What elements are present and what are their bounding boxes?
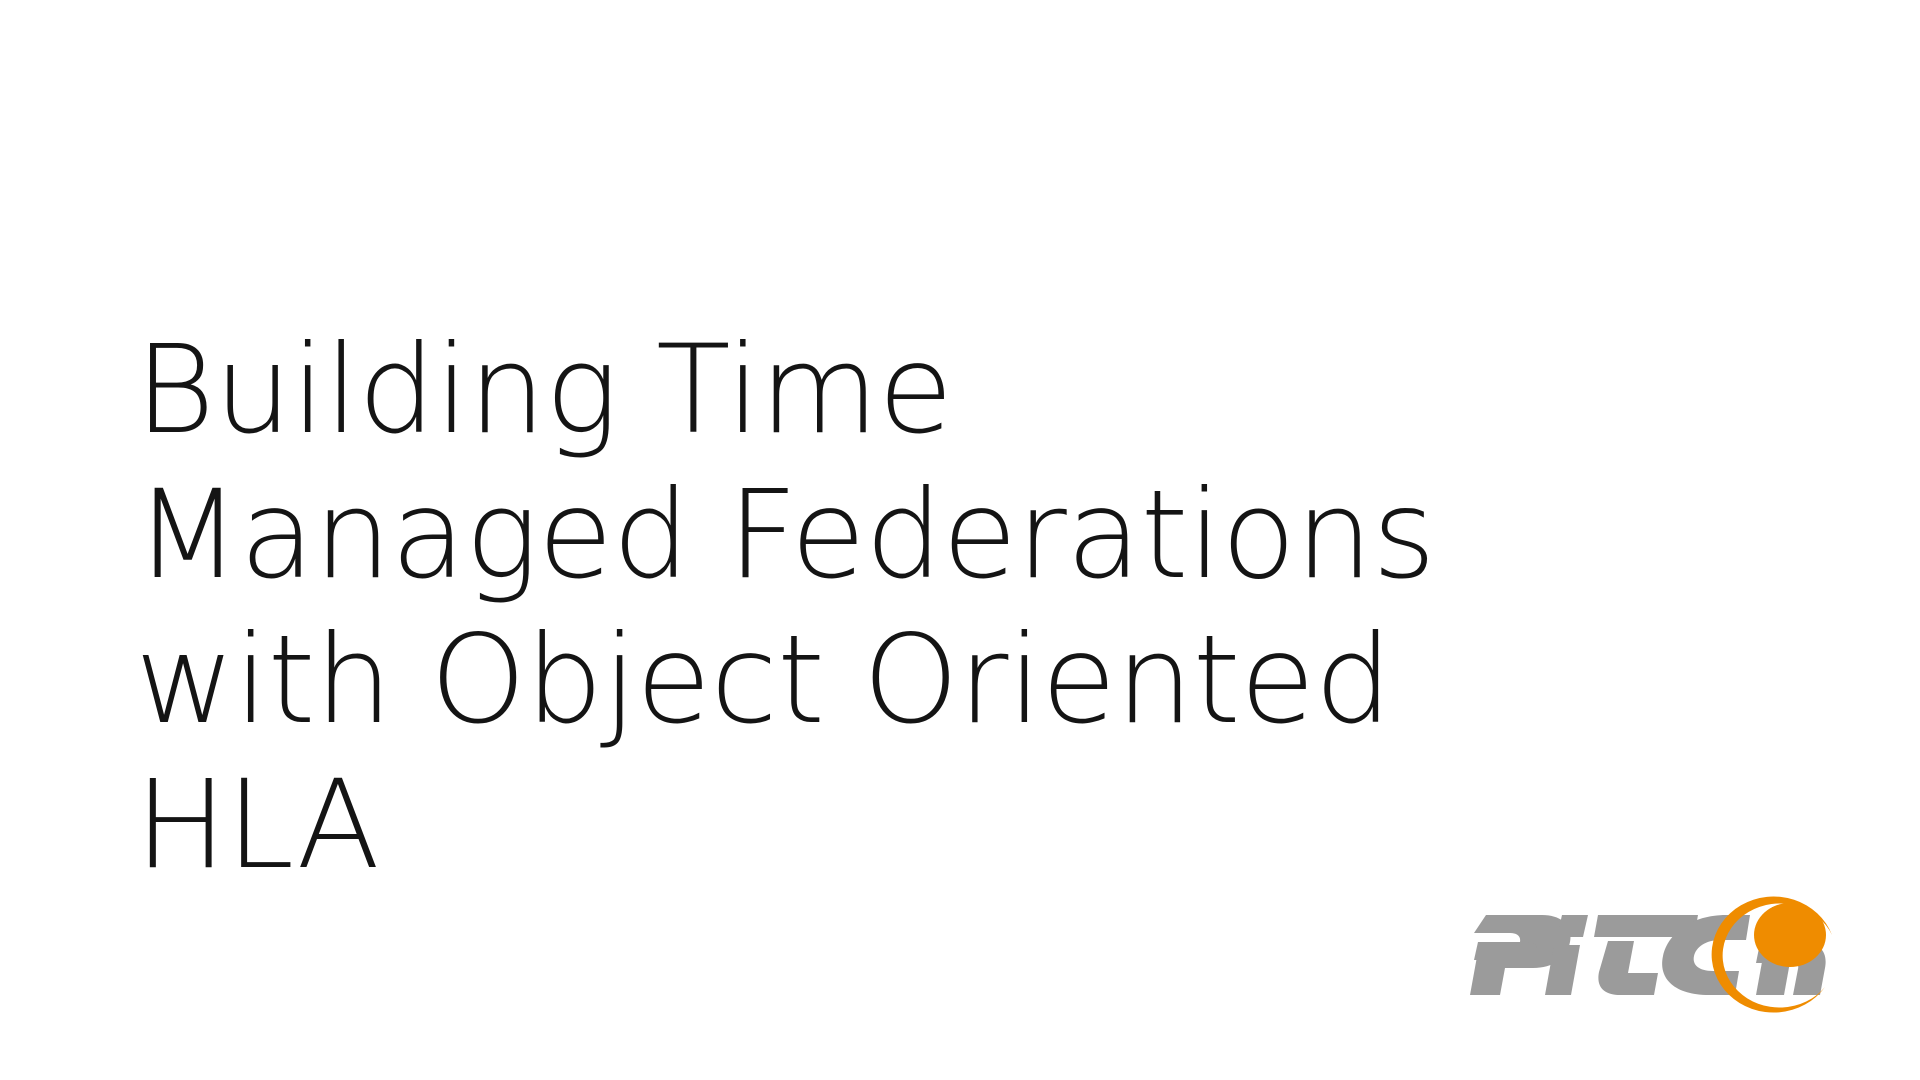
title-block: Building Time Managed Federations with O… xyxy=(135,318,1535,898)
title-slide: Building Time Managed Federations with O… xyxy=(0,0,1920,1080)
pitch-logo xyxy=(1458,893,1870,1017)
crescent-and-dot-icon xyxy=(1712,897,1832,1013)
page-title: Building Time Managed Federations with O… xyxy=(135,318,1535,898)
